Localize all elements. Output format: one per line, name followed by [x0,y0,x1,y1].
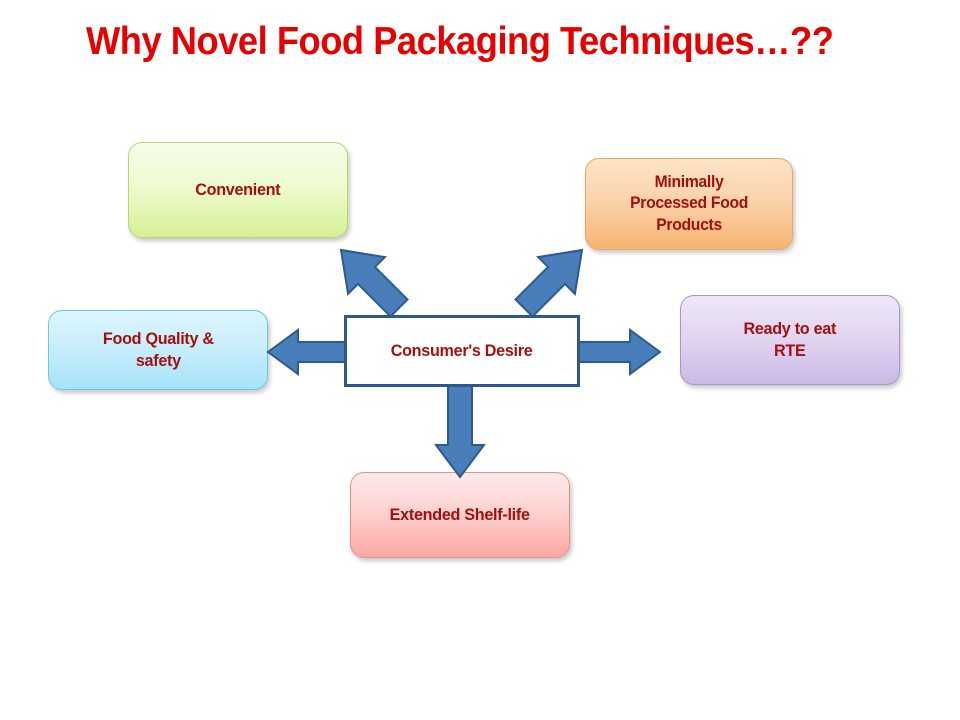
node-ready-to-eat[interactable]: Ready to eat RTE [680,295,900,385]
node-food-quality-safety-label: Food Quality & safety [103,328,214,372]
node-convenient[interactable]: Convenient [128,142,348,238]
arrow-up-left-icon [325,234,415,324]
node-extended-shelf-life[interactable]: Extended Shelf-life [350,472,570,558]
node-extended-shelf-life-label: Extended Shelf-life [390,504,530,526]
node-center-label: Consumer's Desire [391,340,533,362]
page-title: Why Novel Food Packaging Techniques…?? [86,20,830,64]
slide-canvas: Why Novel Food Packaging Techniques…?? [0,0,960,720]
arrow-left-icon [268,326,350,378]
arrow-down-icon [428,385,492,477]
node-convenient-label: Convenient [195,179,280,201]
node-center-consumers-desire[interactable]: Consumer's Desire [344,315,580,387]
arrow-right-icon [578,326,660,378]
node-minimally-processed-label: Minimally Processed Food Products [630,172,748,235]
node-minimally-processed[interactable]: Minimally Processed Food Products [585,158,793,250]
arrow-up-right-icon [508,234,598,324]
node-ready-to-eat-label: Ready to eat RTE [744,318,837,362]
node-food-quality-safety[interactable]: Food Quality & safety [48,310,268,390]
